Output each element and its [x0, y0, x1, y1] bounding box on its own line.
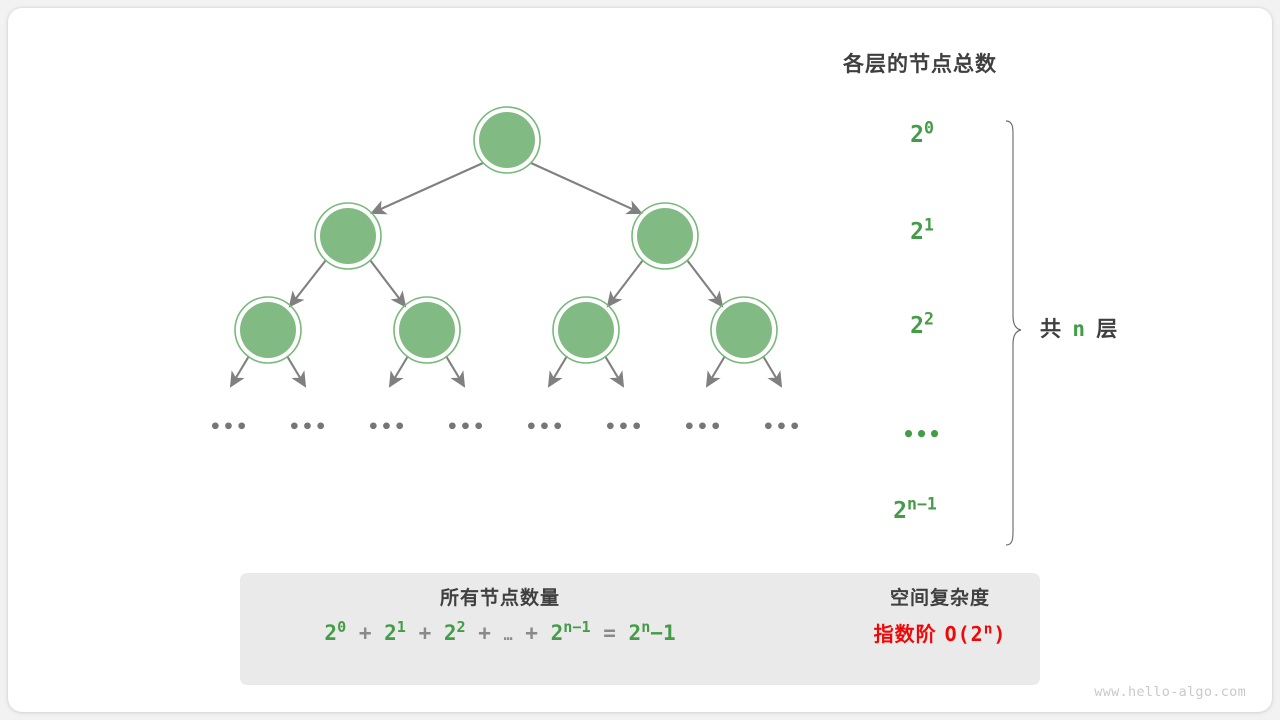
op-plus: + — [525, 621, 538, 645]
op-equals: = — [603, 621, 616, 645]
space-complexity-value: 指数阶 O(2n) — [840, 624, 1040, 644]
term-2-0: 20 — [324, 621, 346, 645]
formula-ellipsis: … — [504, 626, 513, 644]
leaf-ellipsis: ••• — [446, 418, 486, 437]
total-levels-caption: 共 n 层 — [1040, 313, 1119, 343]
leaf-ellipsis: ••• — [525, 418, 565, 437]
complexity-order-label: 指数阶 — [874, 622, 937, 646]
space-complexity-heading: 空间复杂度 — [840, 587, 1040, 611]
term-2-n-1: 2n−1 — [551, 621, 591, 645]
term-result: 2n−1 — [629, 621, 676, 645]
leaf-ellipsis: ••• — [209, 418, 249, 437]
term-2-1: 21 — [384, 621, 406, 645]
op-plus: + — [478, 621, 491, 645]
op-plus: + — [419, 621, 432, 645]
op-plus: + — [359, 621, 372, 645]
complexity-notation: O(2n) — [945, 622, 1007, 646]
leaf-ellipsis: ••• — [683, 418, 723, 437]
level-count-2: 22 — [862, 315, 982, 338]
level-count-ellipsis: ••• — [862, 424, 982, 444]
level-count-last: 2n−1 — [855, 500, 975, 523]
leaf-ellipsis: ••• — [288, 418, 328, 437]
total-nodes-formula: 20 + 21 + 22 + … + 2n−1 = 2n−1 — [250, 623, 750, 644]
total-nodes-heading: 所有节点数量 — [250, 587, 750, 611]
diagram-canvas: 各层的节点总数 20 21 22 ••• 2n−1 共 n 层 ••• ••• … — [0, 0, 1280, 720]
watermark: www.hello-algo.com — [1094, 684, 1246, 700]
column-title: 各层的节点总数 — [760, 48, 1080, 78]
leaf-ellipsis: ••• — [762, 418, 802, 437]
summary-right-block: 空间复杂度 指数阶 O(2n) — [840, 587, 1040, 644]
summary-left-block: 所有节点数量 20 + 21 + 22 + … + 2n−1 = 2n−1 — [250, 587, 750, 644]
leaf-ellipsis: ••• — [367, 418, 407, 437]
leaf-ellipsis: ••• — [604, 418, 644, 437]
level-count-1: 21 — [862, 221, 982, 244]
levels-variable: n — [1072, 317, 1087, 341]
term-2-2: 22 — [444, 621, 466, 645]
summary-panel: 所有节点数量 20 + 21 + 22 + … + 2n−1 = 2n−1 空间… — [240, 573, 1040, 685]
level-count-0: 20 — [862, 124, 982, 147]
